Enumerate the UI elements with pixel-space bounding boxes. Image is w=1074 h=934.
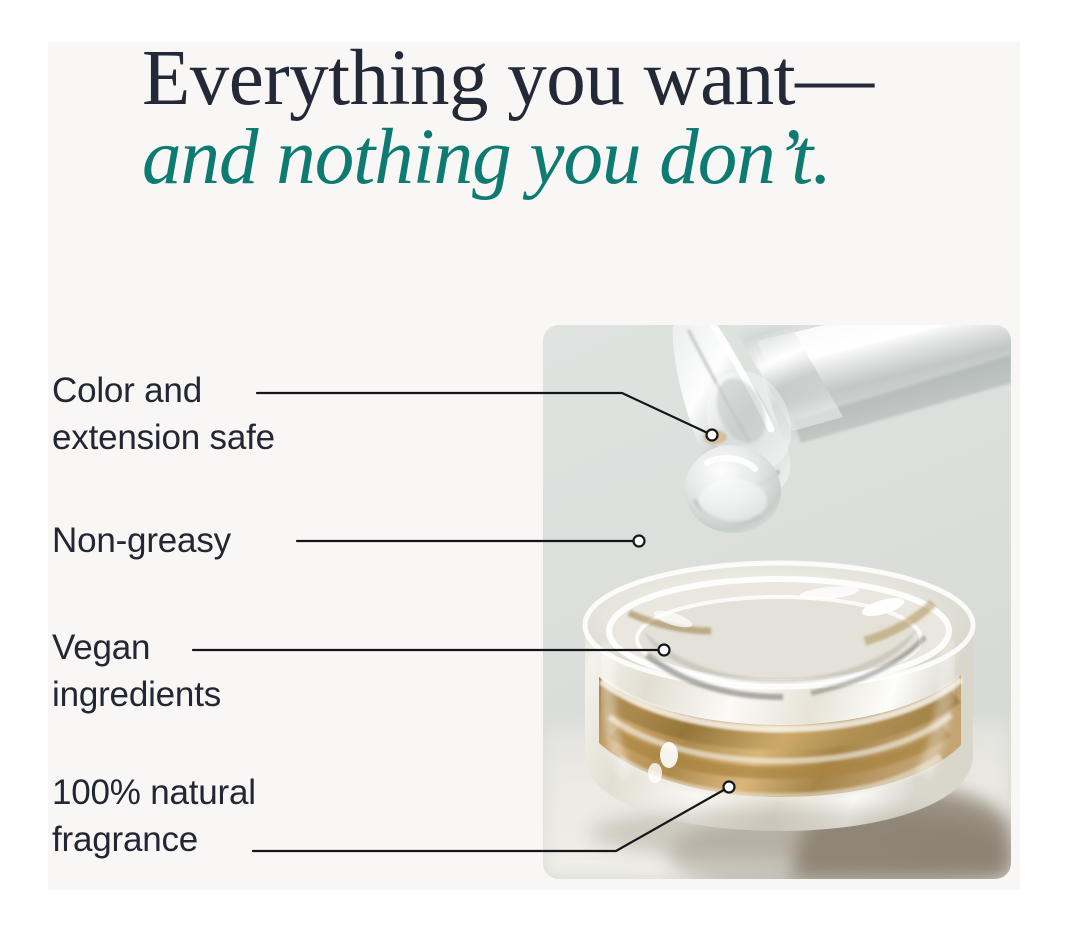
callout-label-vegan-ingredients: Vegan ingredients: [52, 625, 221, 718]
callout-label-100-natural-fragrance: 100% natural fragrance: [52, 770, 256, 863]
callout-label-non-greasy: Non-greasy: [52, 518, 231, 565]
callout-label-color-and-extension-safe: Color and extension safe: [52, 368, 275, 461]
infographic-canvas: Everything you want— and nothing you don…: [0, 0, 1074, 934]
page-title: Everything you want— and nothing you don…: [142, 40, 1002, 197]
headline-line-1: Everything you want—: [142, 40, 1002, 117]
headline-line-2: and nothing you don’t.: [142, 119, 1002, 196]
product-photo: [543, 325, 1011, 879]
